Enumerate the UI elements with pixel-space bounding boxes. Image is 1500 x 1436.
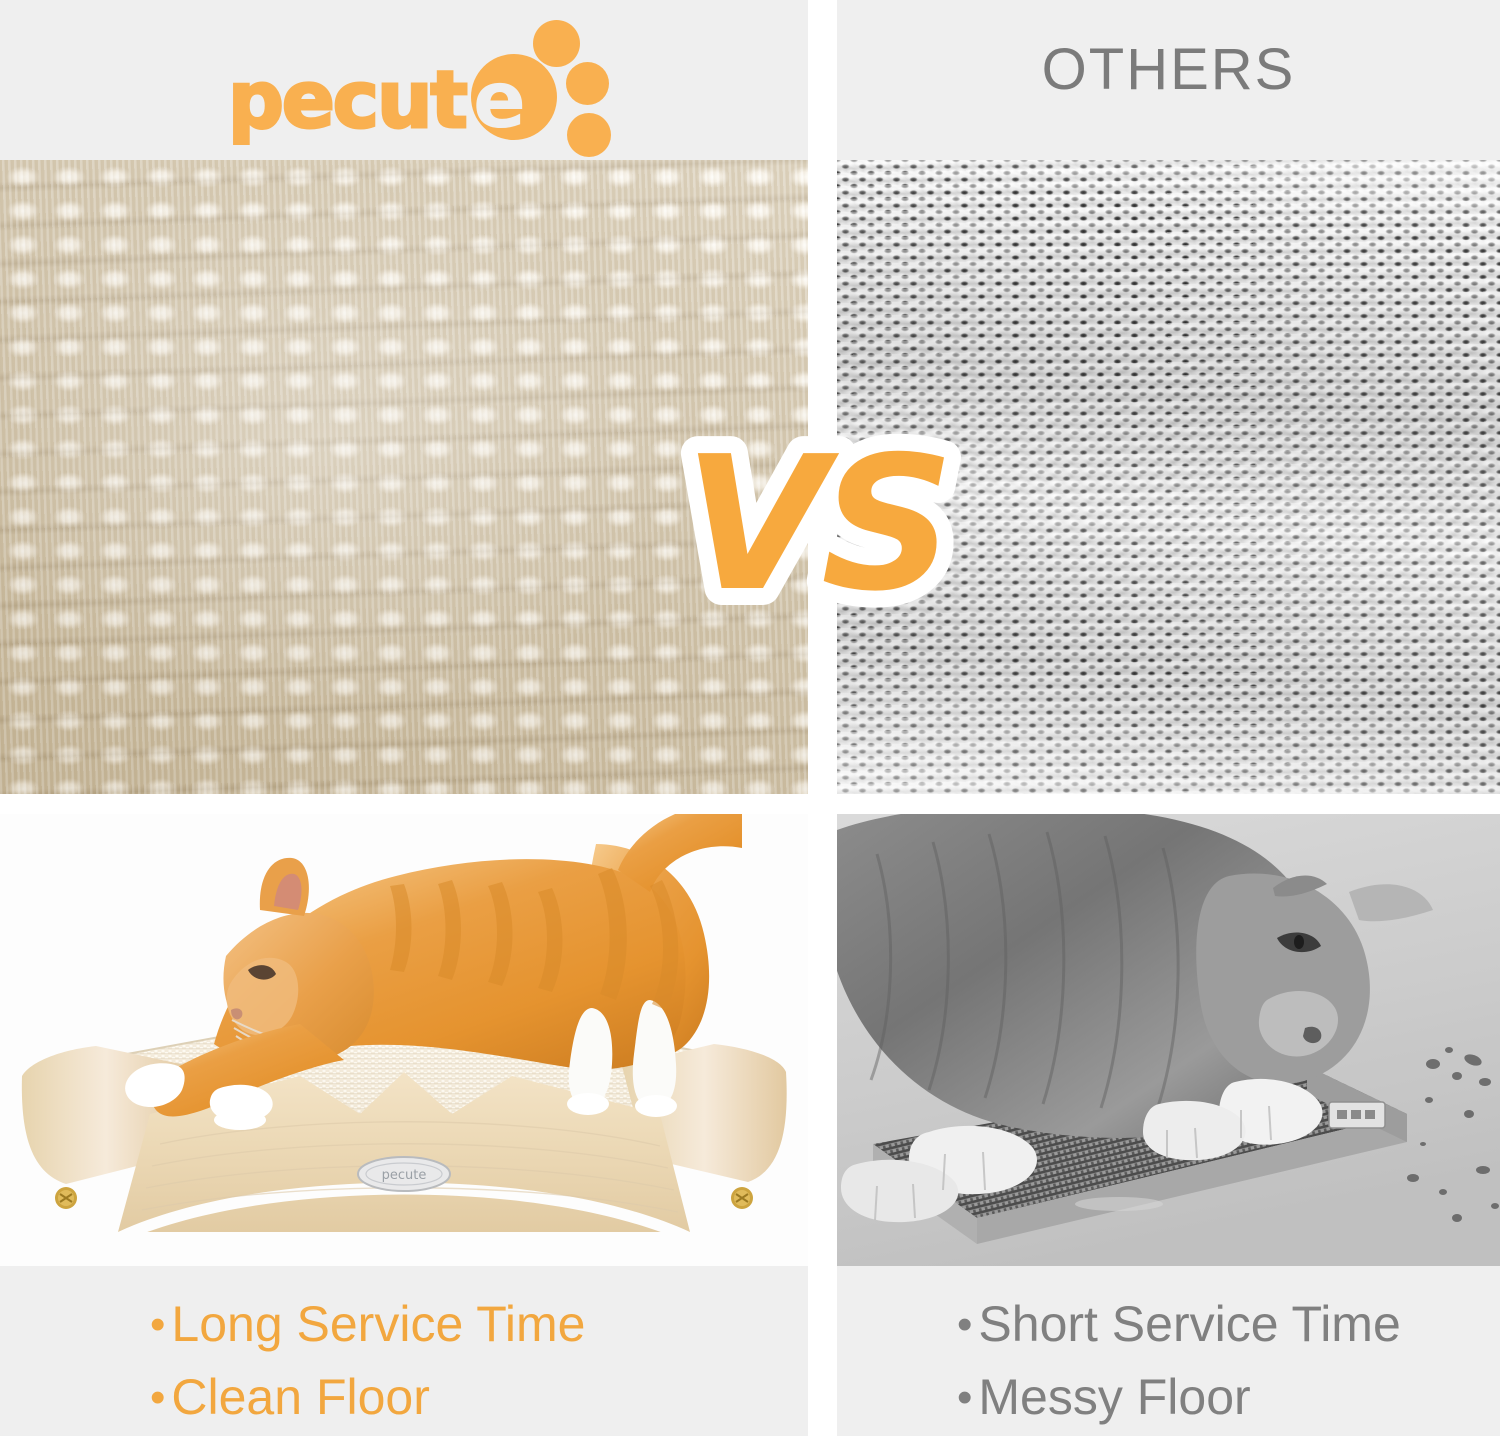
others-heading: OTHERS [837, 0, 1500, 160]
pecute-product-illustration: pecute [0, 814, 808, 1266]
sisal-lighting-overlay [0, 160, 808, 794]
others-product-illustration [837, 814, 1500, 1266]
horizontal-divider-right [837, 794, 1500, 814]
screw-right [731, 1187, 753, 1209]
horizontal-divider-left [0, 794, 808, 814]
panel-pecute-product-photo: pecute [0, 814, 808, 1266]
list-item: •Clean Floor [150, 1361, 808, 1434]
screw-left [55, 1187, 77, 1209]
panel-sisal-texture [0, 160, 808, 794]
logo-paw-dot-3-icon [567, 113, 611, 157]
header-divider-gap [808, 0, 837, 160]
comparison-infographic: pecut e OTHERS VS VS [0, 0, 1500, 1436]
pecute-logo: pecut e [228, 18, 588, 146]
bullet-icon: • [150, 1373, 165, 1422]
logo-paw-dot-2-icon [566, 62, 609, 105]
bullet-icon: • [957, 1373, 972, 1422]
list-item: •Messy Floor [957, 1361, 1500, 1434]
caption-right-list: •Short Service Time •Messy Floor [957, 1288, 1500, 1434]
list-item: •Short Service Time [957, 1288, 1500, 1361]
vertical-divider-top [808, 160, 837, 794]
caption-left-item-1: Clean Floor [171, 1369, 429, 1425]
caption-right: •Short Service Time •Messy Floor [837, 1266, 1500, 1436]
caption-left-item-0: Long Service Time [171, 1296, 585, 1352]
cardboard-lighting-overlay [837, 160, 1500, 794]
caption-right-item-1: Messy Floor [978, 1369, 1250, 1425]
bullet-icon: • [150, 1300, 165, 1349]
brand-plate-text: pecute [382, 1168, 427, 1183]
list-item: •Long Service Time [150, 1288, 808, 1361]
logo-wordmark: pecut [228, 62, 466, 140]
caption-left: •Long Service Time •Clean Floor [0, 1266, 808, 1436]
caption-right-item-0: Short Service Time [978, 1296, 1400, 1352]
caption-left-list: •Long Service Time •Clean Floor [150, 1288, 808, 1434]
logo-paw-dot-1-icon [533, 20, 580, 67]
logo-cut-letter: e [473, 62, 526, 140]
caption-divider-gap [808, 1266, 837, 1436]
bullet-icon: • [957, 1300, 972, 1349]
panel-cardboard-texture [837, 160, 1500, 794]
panel-others-product-photo [837, 814, 1500, 1266]
header-bar: pecut e OTHERS [0, 0, 1500, 160]
